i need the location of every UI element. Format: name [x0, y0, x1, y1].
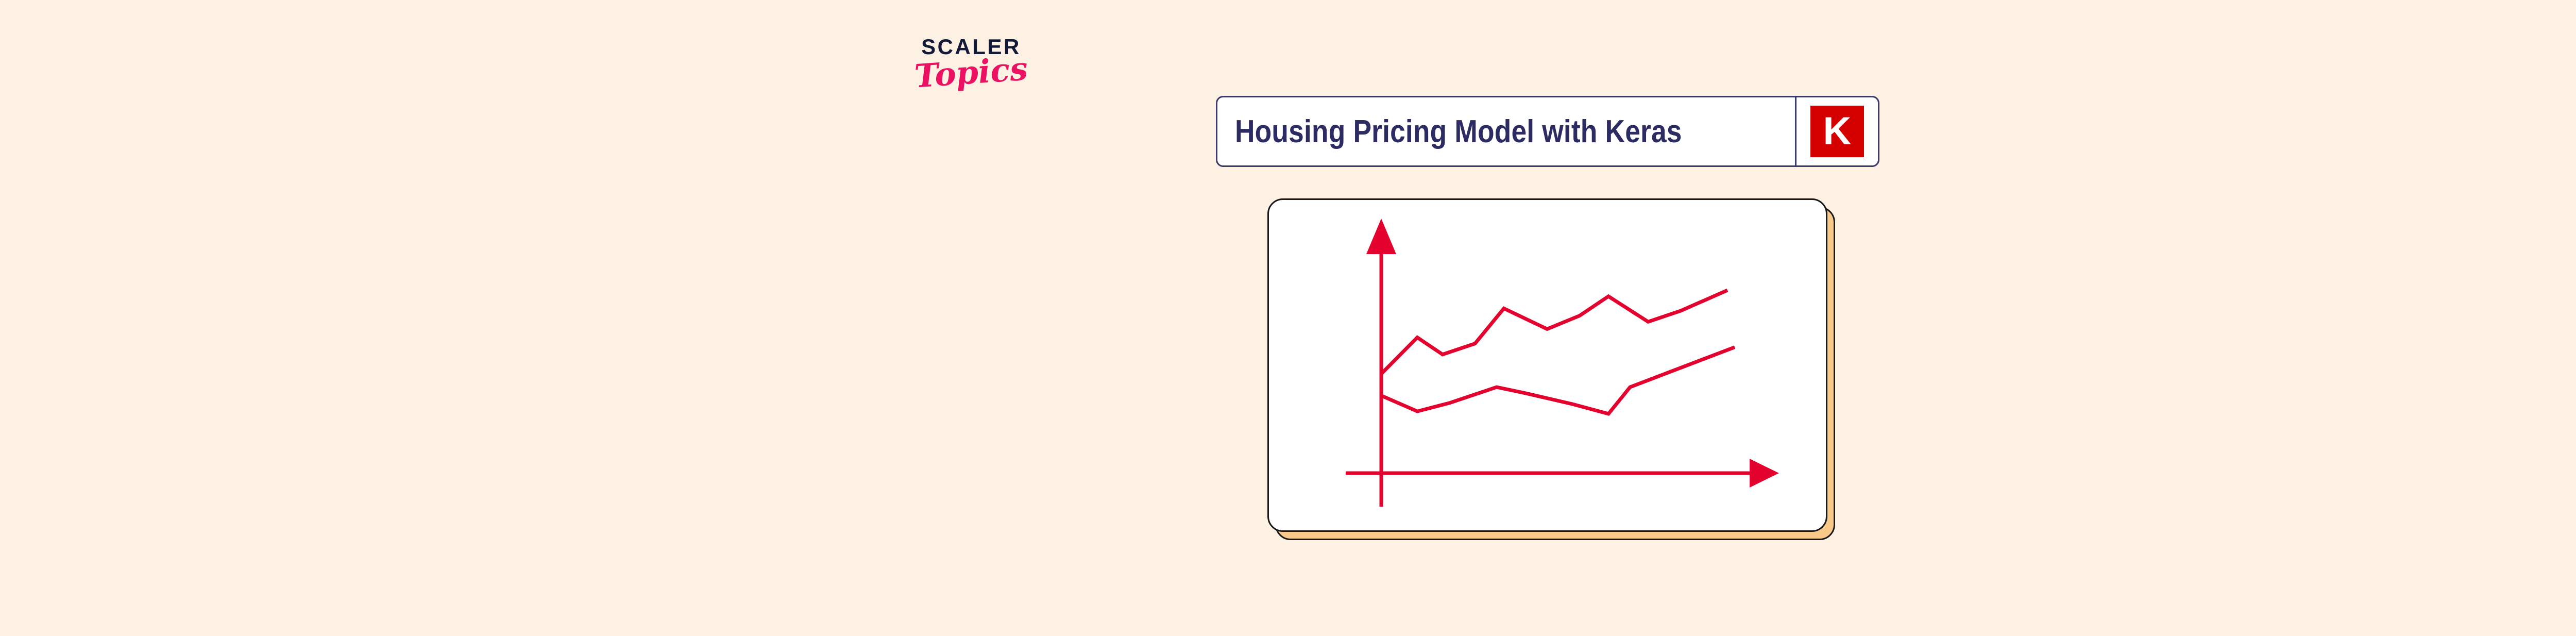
page-title-container: Housing Pricing Model with Keras: [1217, 97, 1795, 165]
chart-line-lower-trend: [1381, 347, 1735, 414]
keras-logo-letter: K: [1823, 112, 1852, 151]
page-title: Housing Pricing Model with Keras: [1235, 113, 1682, 150]
keras-logo-icon: K: [1810, 106, 1864, 157]
chart-axes: [1346, 219, 1779, 507]
chart-line-upper-trend: [1381, 290, 1727, 374]
y-axis-arrow-icon: [1366, 219, 1396, 254]
scaler-topics-logo: SCALER Topics: [894, 36, 1048, 134]
line-chart-illustration: [1269, 200, 1827, 532]
chart-series-group: [1381, 290, 1735, 414]
card-face: [1267, 198, 1827, 532]
illustration-card: [1267, 198, 1835, 541]
keras-logo-container: K: [1797, 97, 1878, 165]
title-bar: Housing Pricing Model with Keras K: [1216, 96, 1879, 167]
x-axis-arrow-icon: [1750, 459, 1779, 488]
brand-script-wordmark: Topics: [893, 52, 1049, 94]
